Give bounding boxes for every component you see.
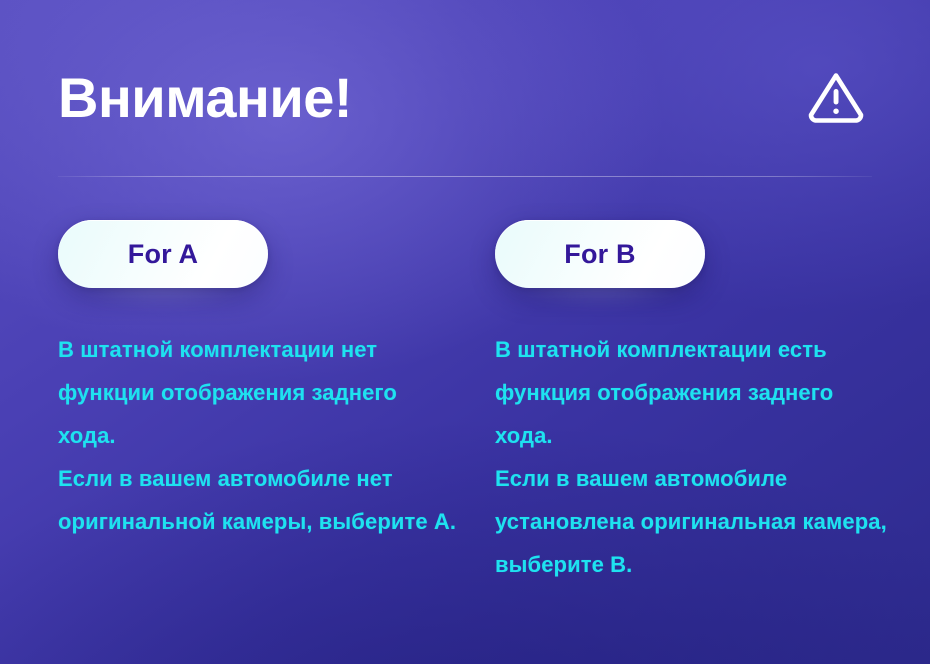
option-column-a: For A В штатной комплектации нет функции… [58,220,493,586]
slide-header: Внимание! [58,52,872,144]
header-divider [58,176,872,177]
page-title: Внимание! [58,70,352,126]
option-b-label: For B [564,241,636,268]
option-b-button[interactable]: For B [495,220,705,288]
option-a-button[interactable]: For A [58,220,268,288]
option-a-paragraph-2: Если в вашем автомобиле нет оригинальной… [58,457,458,543]
option-b-paragraph-2: Если в вашем автомобиле установлена ориг… [495,457,895,586]
option-columns: For A В штатной комплектации нет функции… [58,220,890,586]
option-column-b: For B В штатной комплектации есть функци… [495,220,930,586]
option-a-label: For A [128,241,199,268]
warning-slide: Внимание! For A В штатной комплектации н… [0,0,930,664]
pill-a-wrapper: For A [58,220,268,288]
warning-triangle-icon [806,68,866,128]
option-a-paragraph-1: В штатной комплектации нет функции отобр… [58,328,458,457]
option-b-paragraph-1: В штатной комплектации есть функция отоб… [495,328,895,457]
pill-b-wrapper: For B [495,220,705,288]
